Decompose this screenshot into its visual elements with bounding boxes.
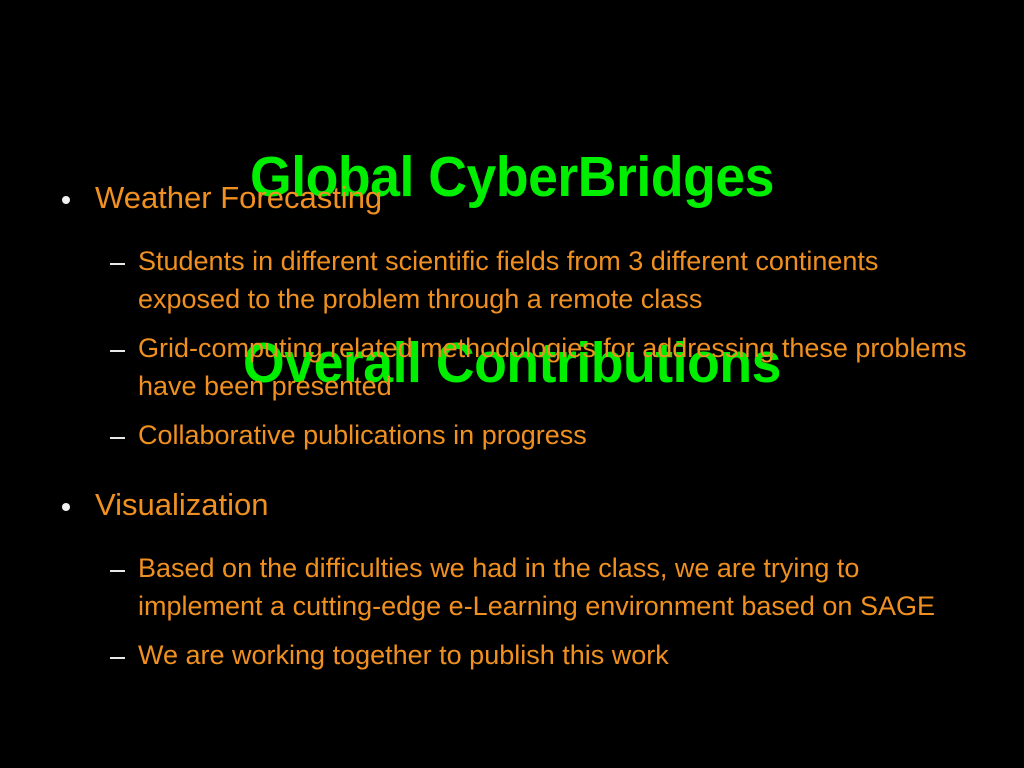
bullet-level2-collaborative-publications: Collaborative publications in progress (0, 416, 1023, 454)
spacer (0, 226, 1024, 242)
bullet-dot-icon (62, 503, 70, 511)
bullet-level2-label: Based on the difficulties we had in the … (138, 549, 984, 625)
bullet-level2-label: Collaborative publications in progress (138, 416, 983, 454)
bullet-dash-icon (110, 570, 125, 572)
spacer (0, 465, 1024, 485)
bullet-level2-publish-this-work: We are working together to publish this … (0, 636, 1023, 674)
bullet-level2-label: Students in different scientific fields … (138, 242, 908, 318)
bullet-level2-students-remote-class: Students in different scientific fields … (0, 242, 948, 318)
bullet-level2-label: We are working together to publish this … (138, 636, 983, 674)
bullet-dash-icon (110, 350, 125, 352)
bullet-level1-label: Visualization (95, 485, 1024, 525)
bullet-level1-label: Weather Forecasting (95, 178, 1024, 218)
bullet-level2-grid-computing-methodologies: Grid-computing related methodologies for… (0, 329, 1023, 405)
slide-canvas: Global CyberBridges Overall Contribution… (0, 0, 1024, 768)
bullet-level1-visualization: Visualization (0, 485, 1024, 525)
bullet-dash-icon (110, 657, 125, 659)
bullet-dot-icon (62, 196, 70, 204)
bullet-level2-elearning-sage: Based on the difficulties we had in the … (0, 549, 1024, 625)
bullet-level2-label: Grid-computing related methodologies for… (138, 329, 983, 405)
bullet-level1-weather-forecasting: Weather Forecasting (0, 178, 1024, 218)
bullet-dash-icon (110, 437, 125, 439)
slide-body: Weather Forecasting Students in differen… (0, 178, 1024, 685)
spacer (0, 533, 1024, 549)
bullet-dash-icon (110, 263, 125, 265)
